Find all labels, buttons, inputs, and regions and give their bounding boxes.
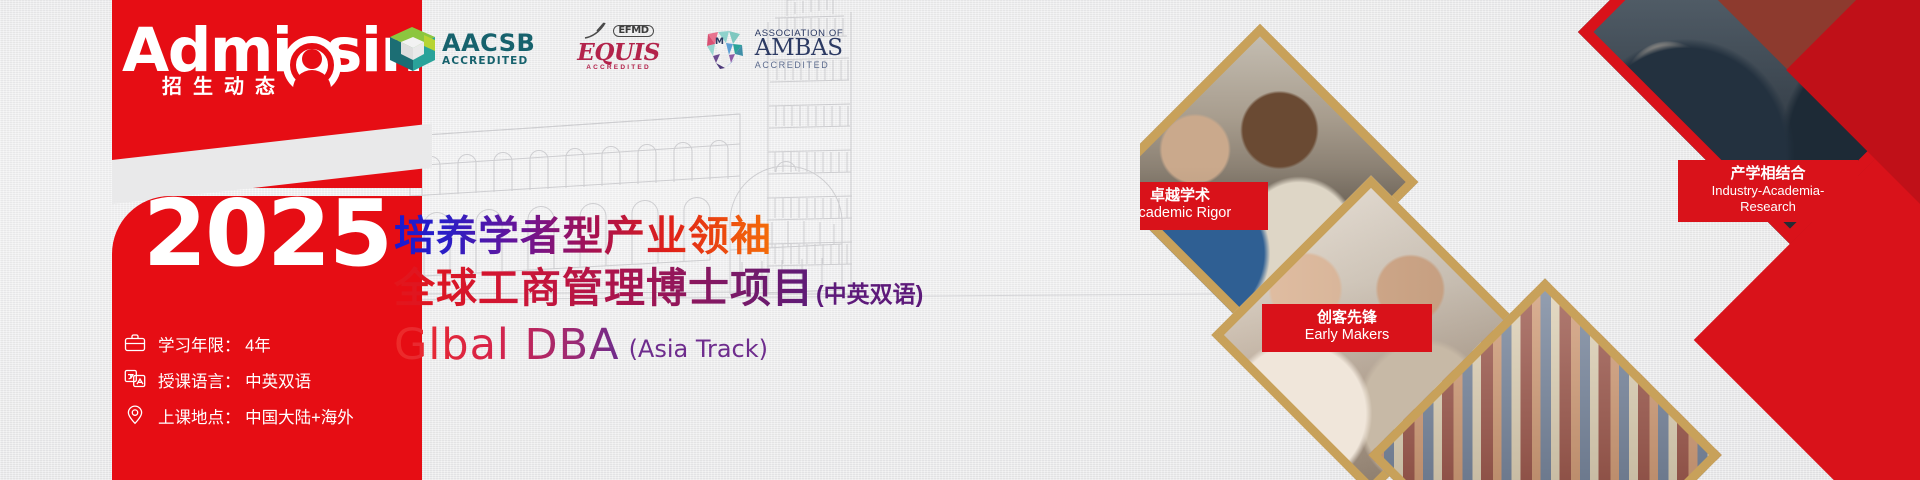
tag-early-makers-en: Early Makers [1274, 327, 1420, 345]
equis-logo: EFMD EQUIS ACCREDITED [577, 22, 660, 72]
left-red-panel: Admissin 招生动态 2025 学习年限： 4年 [0, 0, 420, 480]
tag-industry-academia-en: Industry-Academia- [1690, 183, 1846, 199]
fact-duration: 学习年限： 4年 [124, 326, 424, 362]
accreditation-logos: AACSB ACCREDITED EFMD EQUIS ACCREDITED [390, 22, 843, 72]
person-in-circle-icon [283, 36, 341, 94]
admission-logo: Admissin 招生动态 [122, 24, 422, 102]
tag-early-makers-cn: 创客先锋 [1274, 309, 1420, 327]
location-pin-icon [124, 405, 150, 427]
svg-text:M: M [715, 37, 724, 47]
fact-location: 上课地点： 中国大陆+海外 [124, 398, 424, 434]
language-icon [124, 369, 150, 391]
fact-language-text: 授课语言： 中英双语 [158, 368, 311, 392]
program-name-en-note: (Asia Track) [629, 335, 768, 367]
amba-name: AMBAS [755, 37, 843, 60]
admission-logo-cn: 招生动态 [162, 70, 286, 99]
program-titles: 培养学者型产业领袖 全球工商管理博士项目 (中英双语) Glbal DBA (A… [394, 212, 923, 367]
tag-industry-academia-en2: Research [1690, 199, 1846, 215]
fact-language: 授课语言： 中英双语 [124, 362, 424, 398]
tag-early-makers: 创客先锋 Early Makers [1262, 304, 1432, 352]
amba-diamond-icon: M [702, 28, 748, 72]
tag-academic-rigor-cn: 卓越学术 [1140, 187, 1256, 205]
aacsb-status: ACCREDITED [442, 56, 535, 67]
equis-name: EQUIS [577, 41, 660, 64]
program-name-cn-note: (中英双语) [816, 275, 923, 313]
program-name-cn: 全球工商管理博士项目 [394, 264, 814, 312]
briefcase-icon [124, 333, 150, 355]
program-name-en: Glbal DBA [394, 324, 620, 367]
aacsb-logo: AACSB ACCREDITED [390, 27, 535, 72]
aacsb-name: AACSB [442, 31, 535, 55]
tag-industry-academia-cn: 产学相结合 [1690, 165, 1846, 183]
fact-location-text: 上课地点： 中国大陆+海外 [158, 404, 354, 428]
admission-banner: AACSB ACCREDITED EFMD EQUIS ACCREDITED [0, 0, 1920, 480]
tag-academic-rigor: 卓越学术 Academic Rigor [1140, 182, 1268, 230]
efmd-badge: EFMD [613, 25, 653, 37]
efmd-swoosh-icon [583, 22, 609, 40]
program-facts: 学习年限： 4年 授课语言： 中英双语 [124, 326, 424, 434]
amba-status: ACCREDITED [755, 61, 843, 70]
tag-industry-academia: 产学相结合 Industry-Academia- Research [1678, 160, 1858, 222]
fact-duration-text: 学习年限： 4年 [158, 332, 271, 356]
equis-status: ACCREDITED [577, 65, 660, 72]
headline-cn: 培养学者型产业领袖 [394, 212, 923, 260]
amba-logo: M ASSOCIATION OF AMBAS ACCREDITED [702, 28, 843, 72]
aacsb-cube-icon [390, 27, 435, 72]
center-content: AACSB ACCREDITED EFMD EQUIS ACCREDITED [360, 0, 1220, 480]
tag-academic-rigor-en: Academic Rigor [1140, 205, 1256, 223]
photo-collage: 卓越学术 Academic Rigor 产学相结合 Industry-Acade… [1140, 0, 1920, 480]
admission-year: 2025 [112, 188, 422, 280]
